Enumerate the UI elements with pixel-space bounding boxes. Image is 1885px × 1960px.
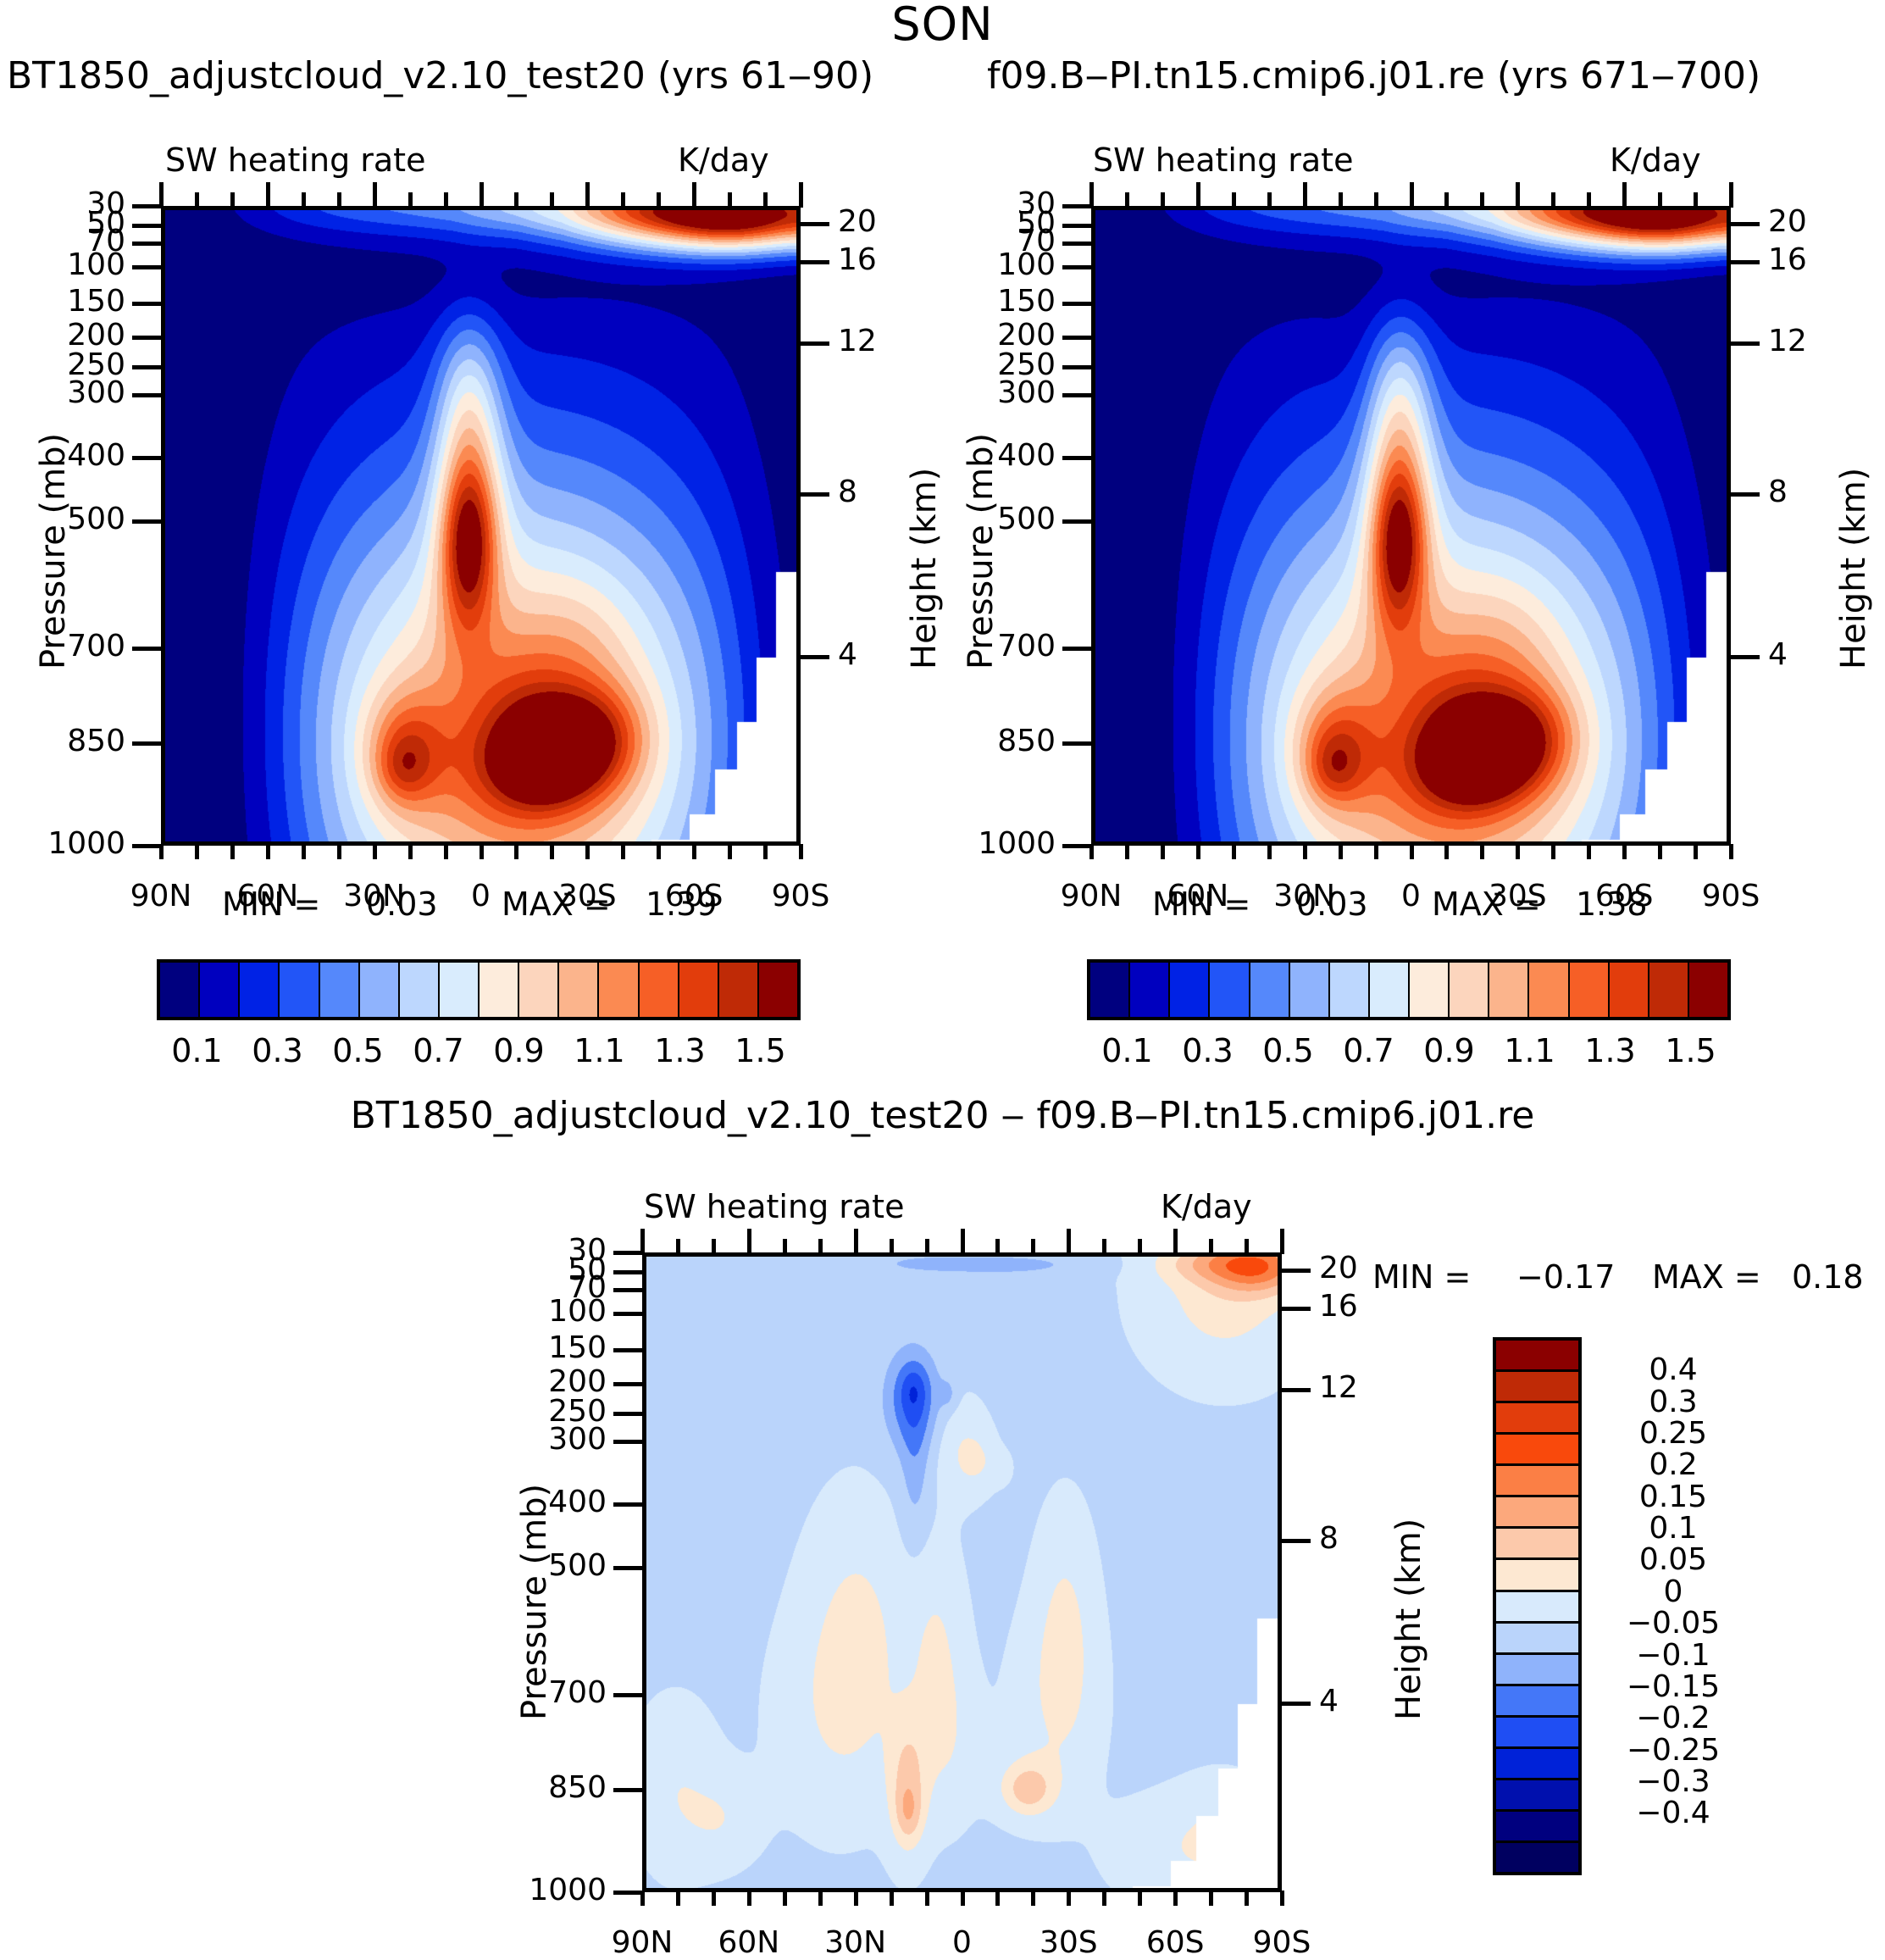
colorbar-tick-label: 0 — [1605, 1574, 1741, 1609]
D-lat-tick-label: 90S — [1214, 1928, 1350, 1958]
colorbar-tick-label: 0.4 — [1605, 1352, 1741, 1387]
colorbar-tick-label: 0.25 — [1605, 1416, 1741, 1451]
D-lat-tick-label: 90N — [574, 1928, 710, 1958]
colorbar-tick-label: 0.1 — [1605, 1511, 1741, 1546]
D-lat-tick-label: 30S — [1001, 1928, 1136, 1958]
colorbar-tick-label: 0.15 — [1605, 1480, 1741, 1514]
colorbar-tick-label: 0.2 — [1605, 1447, 1741, 1482]
colorbar-tick-label: −0.2 — [1605, 1701, 1741, 1735]
D-lat-tick-label: 60N — [681, 1928, 817, 1958]
D-lat-tick-label: 30N — [788, 1928, 923, 1958]
colorbar-tick-label: 0.3 — [1605, 1385, 1741, 1419]
colorbar-tick-label: −0.1 — [1605, 1638, 1741, 1673]
colorbar-tick-label: 0.05 — [1605, 1542, 1741, 1577]
colorbar-tick-label: −0.3 — [1605, 1764, 1741, 1799]
D-lat-tick-label: 60S — [1107, 1928, 1243, 1958]
D-lat-tick-label: 0 — [895, 1928, 1030, 1958]
colorbar-tick-label: −0.4 — [1605, 1796, 1741, 1830]
colorbar-tick-label: −0.25 — [1605, 1733, 1741, 1768]
diff-colorbar-labels: 0.40.30.250.20.150.10.050−0.05−0.1−0.15−… — [0, 0, 1885, 1916]
colorbar-tick-label: −0.05 — [1605, 1606, 1741, 1641]
colorbar-tick-label: −0.15 — [1605, 1669, 1741, 1704]
